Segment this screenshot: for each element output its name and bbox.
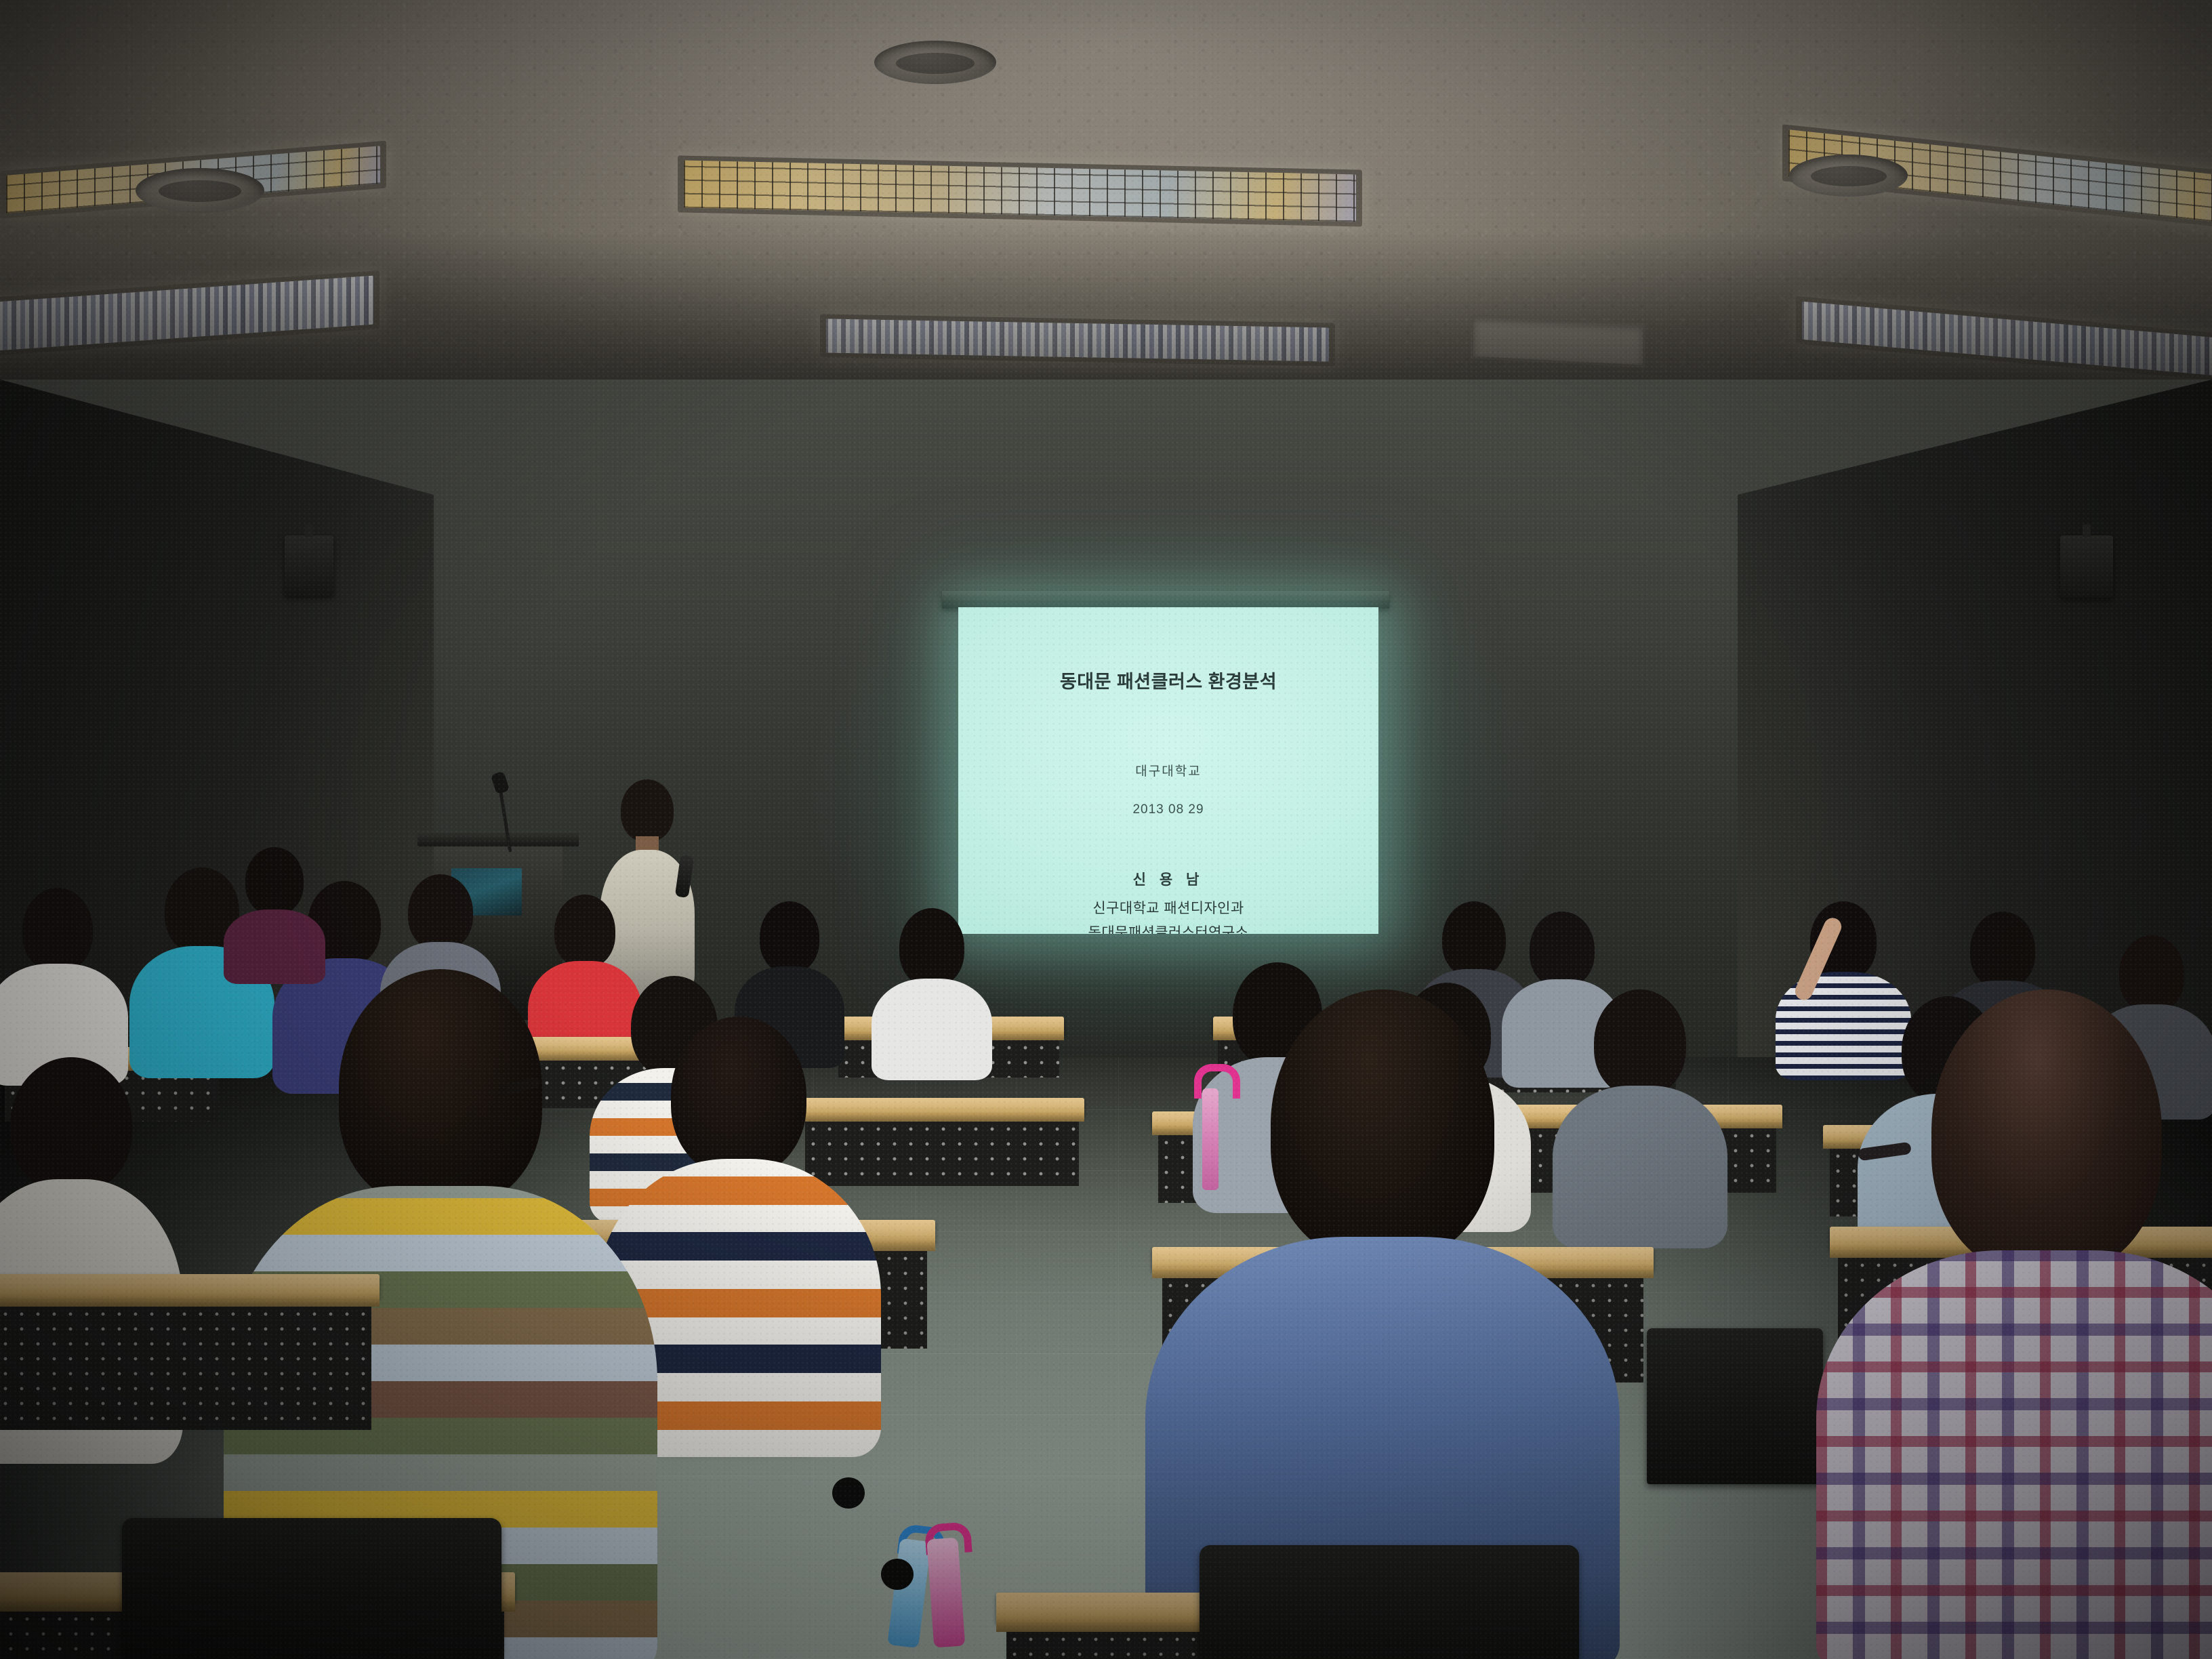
slide-presenter: 신 용 남: [1133, 869, 1204, 889]
head: [1530, 912, 1595, 987]
desk: [0, 1274, 380, 1430]
head: [1271, 989, 1494, 1261]
torso: [1816, 1250, 2212, 1659]
ceiling-vent: [874, 41, 996, 84]
slide-organization: 대구대학교: [1135, 761, 1201, 779]
torso: [872, 979, 992, 1080]
wall-speaker-right: [2060, 535, 2113, 598]
audience-member: [1816, 989, 2212, 1659]
chair: [1200, 1545, 1579, 1659]
wall-speaker-left: [285, 535, 333, 596]
head: [1970, 912, 2035, 989]
head: [671, 1017, 806, 1176]
head: [554, 895, 615, 968]
chair-caster: [881, 1559, 914, 1590]
audience-member: [874, 908, 989, 1064]
projection-screen: 동대문 패션클러스 환경분석 대구대학교 2013 08 29 신 용 남 신구…: [958, 607, 1378, 934]
chair-caster: [832, 1477, 865, 1509]
head: [899, 908, 964, 987]
head: [760, 901, 819, 973]
chair: [1647, 1328, 1823, 1484]
ceiling-vent: [136, 168, 264, 213]
screen-housing: [942, 591, 1389, 609]
chair: [122, 1518, 501, 1659]
audience-member: [0, 888, 129, 1078]
head: [1931, 989, 2162, 1274]
head: [245, 847, 304, 915]
ceiling-vent: [1789, 155, 1908, 197]
podium-ledge: [417, 833, 579, 846]
slide-title: 동대문 패션클러스 환경분석: [1060, 667, 1277, 693]
slide-date: 2013 08 29: [1132, 802, 1204, 817]
lecture-hall-photo: 동대문 패션클러스 환경분석 대구대학교 2013 08 29 신 용 남 신구…: [0, 0, 2212, 1659]
slide-affiliation-1: 신구대학교 패션디자인과: [1092, 897, 1244, 918]
audience-member: [224, 847, 325, 969]
head: [408, 874, 473, 950]
head: [10, 1057, 132, 1193]
slide-affiliation-2: 동대문패션클러스터연구소: [1088, 922, 1249, 934]
presenter-head: [621, 779, 674, 842]
head: [1442, 901, 1506, 977]
head: [22, 888, 93, 972]
